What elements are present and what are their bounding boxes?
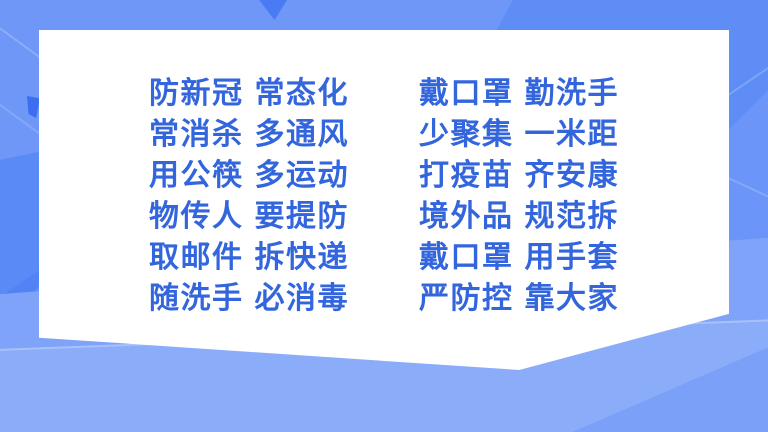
slogan-grid: 防新冠常态化 常消杀多通风 用公筷多运动 物传人要提防 取邮件拆快递 随洗手必消… (39, 30, 729, 330)
slogan-line: 常消杀多通风 (149, 114, 349, 155)
slogan-line: 打疫苗齐安康 (419, 155, 619, 196)
slogan-phrase-second: 要提防 (255, 199, 350, 234)
slogan-phrase-second: 齐安康 (525, 158, 620, 193)
slogan-phrase-first: 防新冠 (149, 76, 244, 111)
slogan-phrase-first: 常消杀 (149, 117, 244, 152)
slogan-line: 戴口罩用手套 (419, 237, 619, 278)
slogan-line: 物传人要提防 (149, 196, 349, 237)
slogan-line: 少聚集一米距 (419, 114, 619, 155)
slogan-line: 随洗手必消毒 (149, 278, 349, 319)
slogan-phrase-second: 用手套 (525, 240, 620, 275)
slogan-phrase-second: 规范拆 (525, 199, 620, 234)
slogan-phrase-second: 拆快递 (255, 240, 350, 275)
slogan-phrase-first: 戴口罩 (419, 240, 514, 275)
slogan-line: 戴口罩勤洗手 (419, 73, 619, 114)
poster-canvas: 防新冠常态化 常消杀多通风 用公筷多运动 物传人要提防 取邮件拆快递 随洗手必消… (0, 0, 768, 432)
slogan-phrase-first: 用公筷 (149, 158, 244, 193)
slogan-line: 取邮件拆快递 (149, 237, 349, 278)
slogan-phrase-second: 必消毒 (255, 281, 350, 316)
facet-top-notch (236, 0, 306, 20)
slogan-phrase-second: 多通风 (255, 117, 350, 152)
slogan-phrase-second: 勤洗手 (525, 76, 620, 111)
slogan-phrase-first: 物传人 (149, 199, 244, 234)
slogan-phrase-second: 多运动 (255, 158, 350, 193)
slogan-line: 严防控靠大家 (419, 278, 619, 319)
slogan-phrase-first: 随洗手 (149, 281, 244, 316)
slogan-phrase-first: 严防控 (419, 281, 514, 316)
slogan-phrase-first: 取邮件 (149, 240, 244, 275)
slogan-line: 用公筷多运动 (149, 155, 349, 196)
slogan-column-right: 戴口罩勤洗手 少聚集一米距 打疫苗齐安康 境外品规范拆 戴口罩用手套 严防控靠大… (419, 73, 619, 319)
slogan-phrase-second: 一米距 (525, 117, 620, 152)
slogan-phrase-second: 常态化 (255, 76, 350, 111)
slogan-line: 防新冠常态化 (149, 73, 349, 114)
slogan-column-left: 防新冠常态化 常消杀多通风 用公筷多运动 物传人要提防 取邮件拆快递 随洗手必消… (149, 73, 349, 319)
slogan-phrase-first: 少聚集 (419, 117, 514, 152)
slogan-phrase-first: 打疫苗 (419, 158, 514, 193)
slogan-phrase-first: 境外品 (419, 199, 514, 234)
slogan-phrase-second: 靠大家 (525, 281, 620, 316)
slogan-phrase-first: 戴口罩 (419, 76, 514, 111)
slogan-line: 境外品规范拆 (419, 196, 619, 237)
